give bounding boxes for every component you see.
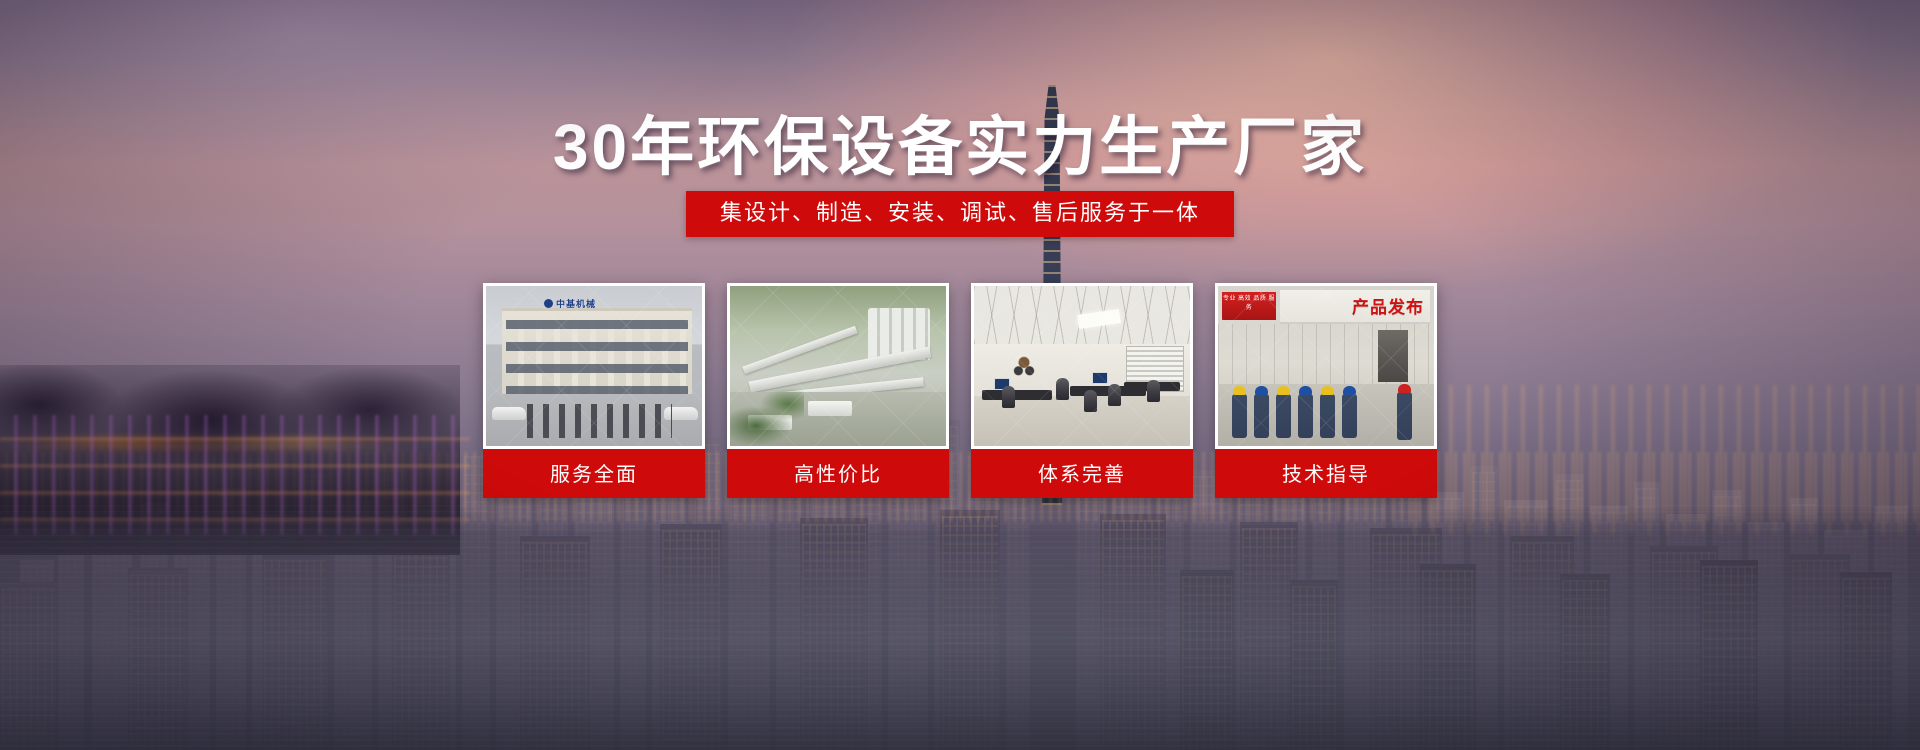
- card-photo-workshop-team: 专业 高效 品质 服务 产品发布: [1218, 286, 1434, 446]
- card-caption: 体系完善: [971, 449, 1193, 498]
- feature-card[interactable]: 专业 高效 品质 服务 产品发布 技术指导: [1215, 283, 1437, 498]
- workshop-red-sign: 产品发布: [1352, 293, 1424, 318]
- hero-banner: 30年环保设备实力生产厂家 集设计、制造、安装、调试、售后服务于一体 中基机械 …: [0, 0, 1920, 750]
- feature-card[interactable]: 体系完善: [971, 283, 1193, 498]
- card-caption: 高性价比: [727, 449, 949, 498]
- card-caption: 技术指导: [1215, 449, 1437, 498]
- card-photo-production-plant: [730, 286, 946, 446]
- building-sign: 中基机械: [544, 297, 596, 310]
- subtitle-banner: 集设计、制造、安装、调试、售后服务于一体: [686, 191, 1234, 237]
- page-title: 30年环保设备实力生产厂家: [0, 96, 1920, 188]
- card-photo-office-interior: [974, 286, 1190, 446]
- card-caption: 服务全面: [483, 449, 705, 498]
- subtitle-banner-wrapper: 集设计、制造、安装、调试、售后服务于一体: [0, 191, 1920, 237]
- feature-card[interactable]: 中基机械 服务全面: [483, 283, 705, 498]
- workshop-side-banner: 专业 高效 品质 服务: [1222, 292, 1276, 320]
- river-water: [0, 505, 1920, 750]
- feature-card[interactable]: 高性价比: [727, 283, 949, 498]
- feature-card-list: 中基机械 服务全面 高性价比: [483, 283, 1437, 498]
- card-photo-office-building: 中基机械: [486, 286, 702, 446]
